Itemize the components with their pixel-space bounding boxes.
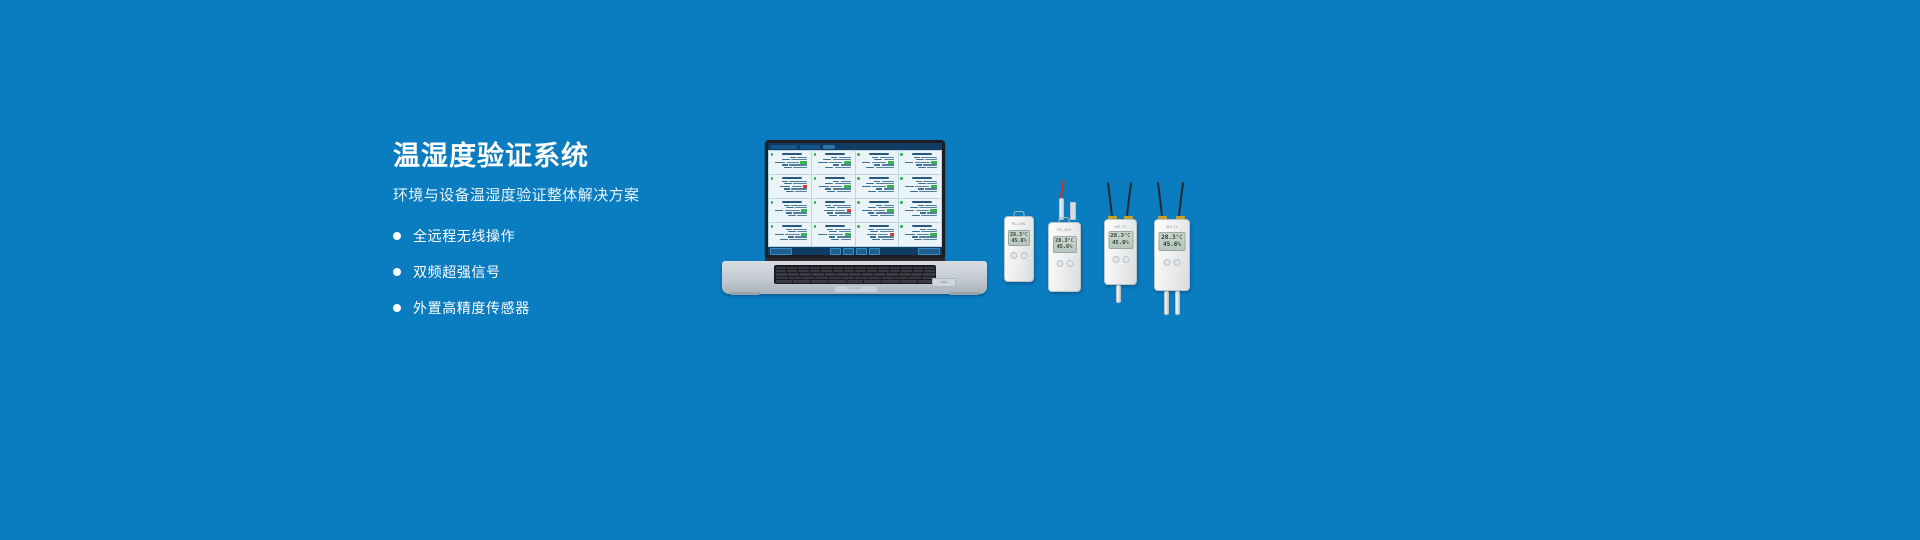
tab-alarm[interactable] [823,145,835,149]
keyboard-key[interactable] [844,267,854,269]
device-3-keypad[interactable] [1112,256,1129,263]
page-button-1[interactable] [830,248,841,255]
feature-label: 全远程无线操作 [413,226,515,246]
monitor-card-field [775,185,809,187]
field-value [793,167,807,169]
field-label [827,191,835,193]
monitor-card-field [905,233,939,235]
monitor-card-field [862,183,896,185]
field-label [874,159,882,161]
device-3-key-left[interactable] [1112,256,1119,263]
field-value [916,210,929,212]
ok-badge [930,209,937,211]
keyboard-key[interactable] [895,277,907,279]
ok-badge [887,209,894,211]
field-value [873,210,885,212]
list-item: 双频超强信号 [393,262,723,282]
device-4-key-right[interactable] [1174,259,1181,266]
field-value [841,181,851,183]
keyboard-key[interactable] [849,273,860,275]
field-label [876,205,882,207]
laptop-lid [765,140,945,258]
field-label [775,234,784,236]
status-badge [857,177,860,180]
start-button[interactable] [770,248,792,255]
field-label [784,188,790,190]
device-4-antenna-right [1178,182,1184,216]
keyboard-row[interactable] [776,273,935,275]
monitor-card[interactable] [812,223,854,246]
monitor-card-title [912,201,932,203]
monitor-card-field [862,229,896,231]
field-value [872,162,886,164]
field-label [905,186,914,188]
device-3-lcd: 28.3°C 45.6% [1108,231,1133,249]
field-label [784,205,790,207]
monitor-card[interactable] [856,223,898,246]
device-2-key-right[interactable] [1066,260,1073,267]
keyboard-key[interactable] [901,270,911,272]
field-label [918,205,924,207]
keyboard-key[interactable] [869,277,881,279]
device-2-key-left[interactable] [1056,260,1063,267]
keyboard-key[interactable] [833,270,843,272]
monitor-card-field [862,185,896,187]
monitor-card[interactable] [856,151,898,174]
monitor-card[interactable] [899,175,941,198]
monitor-card-field [818,185,852,187]
monitor-card[interactable] [812,199,854,222]
laptop-screen [768,143,942,255]
field-value [927,167,937,169]
field-value [917,234,929,236]
monitor-card-field [818,183,852,185]
field-label [823,159,831,161]
field-label [874,164,880,166]
field-value [925,159,937,161]
monitor-card-field [905,215,939,217]
keyboard-key[interactable] [788,273,799,275]
monitor-card[interactable] [899,151,941,174]
keyboard-key[interactable] [890,267,900,269]
copy-block: 温湿度验证系统 环境与设备温湿度验证整体解决方案 全远程无线操作 双频超强信号 … [393,140,723,334]
field-value [839,215,851,217]
keyboard-key[interactable] [811,280,828,282]
field-label [788,236,794,238]
alarm-badge [890,233,894,235]
field-label [825,205,831,207]
bullet-dot-icon [393,304,401,312]
field-label [872,157,878,159]
monitor-card-field [775,229,809,231]
field-value [829,162,842,164]
bullet-dot-icon [393,232,401,240]
monitor-card-field [862,181,896,183]
field-value [876,229,894,231]
monitor-card-field [905,229,939,231]
monitor-card-field [862,161,896,163]
keyboard-key[interactable] [798,267,808,269]
field-label [780,239,788,241]
keyboard-key[interactable] [878,267,888,269]
monitor-card-title [782,201,802,203]
field-label [818,162,827,164]
field-label [833,181,839,183]
page-title: 温湿度验证系统 [393,140,723,172]
field-label [818,234,826,236]
monitor-card-field [775,233,809,235]
keyboard-key[interactable] [855,267,865,269]
field-value [878,234,888,236]
field-value [878,236,894,238]
device-1: RC-4HC 28.3°C 45.6% [1004,216,1034,282]
field-label [831,239,839,241]
keyboard-key[interactable] [798,270,808,272]
keyboard-key[interactable] [855,270,865,272]
keyboard-key[interactable] [787,267,797,269]
field-label [784,167,792,169]
monitor-card-field [905,157,939,159]
monitor-card-field [905,191,939,193]
device-group: RC-4HC 28.3°C 45.6% RC-4HC 28.3°C [1000,176,1220,316]
keyboard-key[interactable] [810,267,820,269]
status-badge [814,201,817,204]
status-badge [771,225,774,228]
device-4-humidity: 45.6% [1163,242,1181,248]
field-label [918,188,924,190]
field-value [795,236,807,238]
field-value [833,205,851,207]
keyboard-key[interactable] [867,267,877,269]
device-2-keypad[interactable] [1056,260,1073,267]
monitor-card-field [905,212,939,214]
field-value [841,239,851,241]
keyboard-key[interactable] [882,280,899,282]
app-toolbar [768,143,942,150]
ok-badge [930,233,937,235]
device-4-lcd: 28.3°C 45.6% [1159,232,1186,251]
keyboard-key[interactable] [776,270,786,272]
monitor-card-field [775,205,809,207]
field-value [925,188,937,190]
field-label [914,157,920,159]
monitor-card-field [905,183,939,185]
field-label [870,231,878,233]
page-button-3[interactable] [856,248,867,255]
keyboard-key[interactable] [776,273,787,275]
monitor-card-field [818,215,852,217]
ok-badge [845,233,851,235]
keyboard-key[interactable] [821,267,831,269]
keyboard-row[interactable] [776,270,935,272]
status-badge [814,153,817,156]
status-badge [814,225,817,228]
monitor-card-field [905,188,939,190]
exit-button[interactable] [918,248,940,255]
keyboard-key[interactable] [890,270,900,272]
monitor-card-field [862,215,896,217]
field-value [923,164,937,166]
field-label [825,188,831,190]
monitor-card[interactable] [856,175,898,198]
monitor-card-field [818,167,852,169]
status-badge [900,225,903,228]
monitor-card-field [818,181,852,183]
device-1-body: RC-4HC 28.3°C 45.6% [1004,216,1034,282]
monitor-card[interactable] [769,151,811,174]
keyboard-key[interactable] [867,270,877,272]
keyboard-key[interactable] [825,273,836,275]
monitor-card-title [825,225,845,227]
field-label [780,186,790,188]
monitor-card-field [905,236,939,238]
monitor-card[interactable] [812,175,854,198]
device-4-keypad[interactable] [1164,259,1181,266]
monitor-card-field [818,236,852,238]
field-label [819,186,829,188]
keyboard-key[interactable] [909,277,921,279]
keyboard-key[interactable] [844,270,854,272]
field-value [785,210,800,212]
field-label [786,229,792,231]
monitor-card-field [775,157,809,159]
device-3-humidity: 45.6% [1112,241,1129,247]
list-item: 外置高精度传感器 [393,298,723,318]
keyboard-key[interactable] [776,267,786,269]
field-label [916,159,924,161]
field-label [870,215,878,217]
device-2-brand: RC-4HC [1049,228,1080,232]
monitor-card-field [862,231,896,233]
field-value [878,191,894,193]
field-value [878,207,894,209]
keyboard-key[interactable] [862,273,873,275]
field-label [831,157,837,159]
ok-badge [844,185,851,187]
keyboard-key[interactable] [913,267,923,269]
field-label [775,162,785,164]
keyboard-key[interactable] [855,277,867,279]
field-label [827,207,835,209]
keyboard-key[interactable] [842,277,854,279]
monitor-card-field [775,183,809,185]
keyboard-key[interactable] [878,270,888,272]
monitor-card-field [862,159,896,161]
field-label [912,236,918,238]
field-label [784,183,792,185]
field-value [876,183,894,185]
keyboard-key[interactable] [911,273,922,275]
keyboard-key[interactable] [924,270,934,272]
field-value [833,159,851,161]
keyboard-key[interactable] [829,280,846,282]
field-value [884,205,894,207]
device-1-key-left[interactable] [1011,252,1018,259]
keyboard-key[interactable] [815,277,827,279]
device-1-keypad[interactable] [1011,252,1028,259]
keyboard-key[interactable] [833,267,843,269]
device-2-humidity: 45.6% [1057,245,1073,250]
monitor-card-field [905,161,939,163]
field-value [915,162,930,164]
monitor-card-field [818,157,852,159]
field-label [867,234,877,236]
page-button-2[interactable] [843,248,854,255]
keyboard-key[interactable] [787,270,797,272]
monitor-card-title [782,225,802,227]
keyboard-key[interactable] [923,273,934,275]
monitor-card-title [825,177,845,179]
field-label [872,239,880,241]
keyboard-row[interactable] [776,280,935,282]
keyboard-key[interactable] [793,280,810,282]
field-label [825,167,833,169]
keyboard-key[interactable] [800,273,811,275]
monitor-card-field [862,205,896,207]
field-value [835,212,851,214]
keyboard-row[interactable] [776,277,935,279]
field-value [785,234,799,236]
field-label [829,215,837,217]
field-value [837,207,851,209]
status-badge [814,177,817,180]
monitor-card-field [818,188,852,190]
field-value [927,183,937,185]
laptop-foot-right [949,292,979,295]
monitor-card-field [818,207,852,209]
field-label [788,231,796,233]
laptop-keyboard[interactable] [774,265,936,284]
monitor-card-field [818,159,852,161]
laptop-brand-label: HUAWEI [842,286,868,290]
monitor-card-field [862,191,896,193]
field-value [833,188,851,190]
monitor-card[interactable] [769,223,811,246]
monitor-card[interactable] [769,175,811,198]
keyboard-key[interactable] [899,273,910,275]
device-2-lcd: 28.3°C 45.6% [1053,236,1077,253]
keyboard-row[interactable] [776,267,935,269]
app-bottom-toolbar [768,247,942,255]
field-label [868,191,876,193]
monitor-card-field [818,161,852,163]
keyboard-key[interactable] [837,273,848,275]
status-badge [771,153,774,156]
device-1-key-right[interactable] [1021,252,1028,259]
field-value [791,205,807,207]
keyboard-key[interactable] [874,273,885,275]
field-value [791,159,807,161]
keyboard-key[interactable] [776,277,788,279]
monitor-card-field [905,167,939,169]
keyboard-key[interactable] [913,270,923,272]
alarm-badge [803,185,807,187]
alarm-badge [847,209,851,211]
keyboard-key[interactable] [900,280,917,282]
field-label [862,162,871,164]
device-4-key-left[interactable] [1164,259,1171,266]
field-label [862,186,871,188]
keyboard-key[interactable] [812,273,823,275]
tab-realtime[interactable] [800,145,820,149]
field-label [914,239,922,241]
ok-badge [887,185,894,187]
monitor-card-field [818,239,852,241]
keyboard-key[interactable] [821,270,831,272]
field-value [835,183,851,185]
feature-label: 外置高精度传感器 [413,298,530,318]
keyboard-key[interactable] [847,280,864,282]
monitor-card-field [775,212,809,214]
field-label [910,207,918,209]
keyboard-key[interactable] [810,270,820,272]
keyboard-key[interactable] [882,277,894,279]
field-value [919,191,937,193]
keyboard-key[interactable] [776,280,793,282]
field-value [876,167,894,169]
device-3-antenna-right [1126,182,1132,216]
monitor-card-field [818,191,852,193]
monitor-card-field [905,205,939,207]
monitor-card-field [775,231,809,233]
device-4-antenna-left [1157,182,1163,216]
field-value [872,186,885,188]
monitor-card[interactable] [899,223,941,246]
field-value [839,231,851,233]
monitor-card[interactable] [769,199,811,222]
field-label [916,181,922,183]
field-value [830,186,842,188]
field-value [880,215,894,217]
device-3-key-right[interactable] [1122,256,1129,263]
field-label [905,210,914,212]
monitor-card-title [912,177,932,179]
monitor-card-field [905,209,939,211]
keyboard-key[interactable] [924,267,934,269]
field-label [829,236,835,238]
keyboard-key[interactable] [864,280,881,282]
keyboard-key[interactable] [886,273,897,275]
monitor-card-field [818,231,852,233]
keyboard-key[interactable] [789,277,801,279]
monitor-card-field [775,215,809,217]
field-label [905,162,913,164]
monitor-card-title [825,153,845,155]
field-label [920,212,926,214]
monitor-card[interactable] [899,199,941,222]
field-value [921,157,937,159]
monitor-card-field [818,209,852,211]
field-label [905,234,915,236]
monitor-card-title [869,225,889,227]
monitor-card-field [905,207,939,209]
field-value [795,191,807,193]
page-button-4[interactable] [869,248,880,255]
field-value [876,212,894,214]
monitor-card-field [775,236,809,238]
monitor-card[interactable] [856,199,898,222]
bullet-dot-icon [393,268,401,276]
field-label [829,231,837,233]
keyboard-key[interactable] [901,267,911,269]
keyboard-key[interactable] [829,277,841,279]
keyboard-key[interactable] [802,277,814,279]
field-value [797,231,807,233]
field-label [918,183,926,185]
field-label [827,212,833,214]
monitor-card[interactable] [812,151,854,174]
laptop-foot-left [730,292,760,295]
